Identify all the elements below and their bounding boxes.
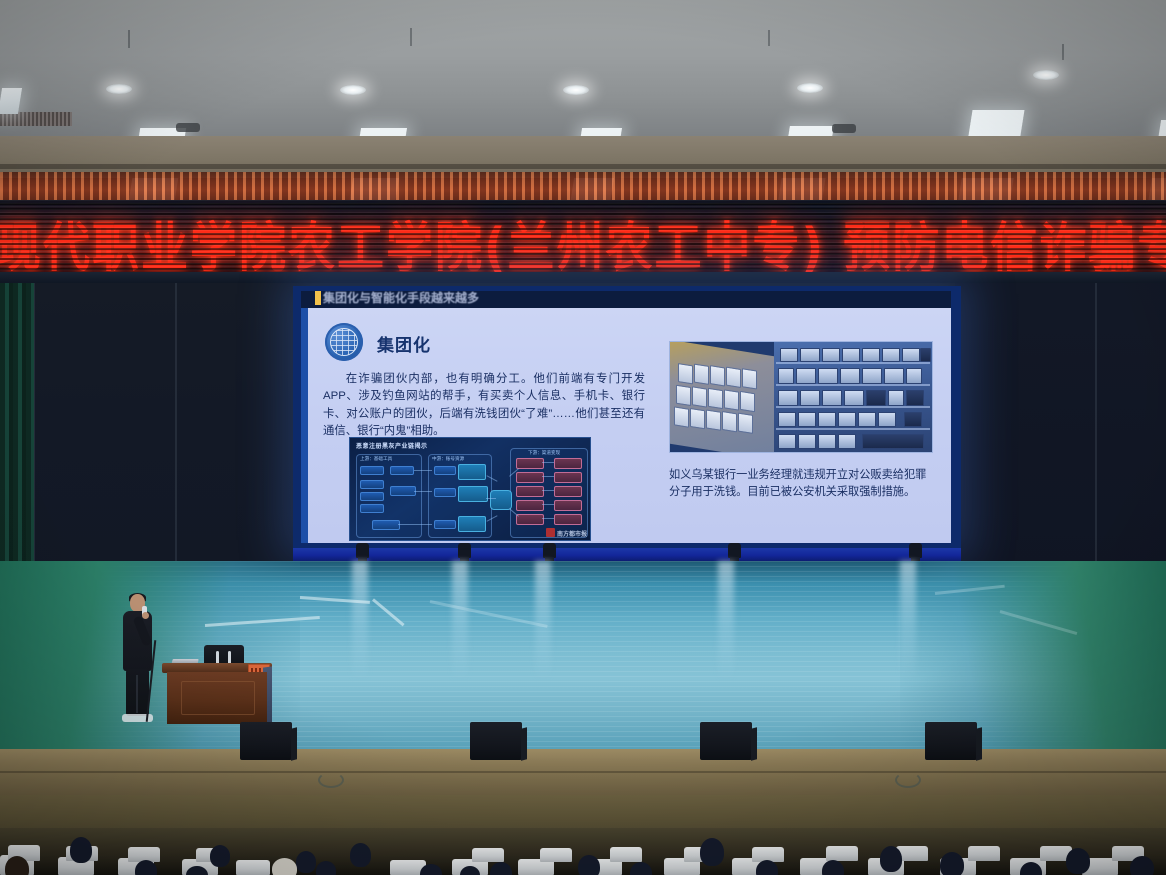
ceiling-spotlight-icon xyxy=(1033,70,1059,80)
podium-panel xyxy=(181,681,255,715)
ceiling-stem xyxy=(410,28,412,46)
diagram-node xyxy=(554,458,582,469)
stage-curtain-left xyxy=(0,283,34,593)
stage-monitor-speaker xyxy=(240,722,292,760)
slide-right-paragraph: 如义乌某银行一业务经理就违规开立对公贩卖给犯罪分子用于洗钱。目前已被公安机关采取… xyxy=(669,467,927,501)
backdrop-seam xyxy=(175,283,177,583)
diagram-node xyxy=(434,488,456,497)
globe-icon xyxy=(325,323,363,361)
presenter-legs xyxy=(126,669,149,716)
audience-head xyxy=(350,843,371,867)
seat xyxy=(610,847,642,862)
auditorium-photo: 现代职业学院农工学院(兰州农工中专) 预防电信诈骗专 集团化与智能化手段越来越多… xyxy=(0,0,1166,875)
audience-head xyxy=(578,855,600,875)
seat xyxy=(968,846,1000,861)
stage-edge xyxy=(0,749,1166,797)
diagram-node xyxy=(516,514,544,525)
audience-head xyxy=(210,845,230,867)
ceiling-speaker-icon xyxy=(832,124,856,133)
diagram-node xyxy=(434,520,456,529)
diagram-group-label: 上游：基础工具 xyxy=(360,456,392,462)
diagram-watermark-label: 南方都市报 xyxy=(557,532,587,538)
led-banner-text: 现代职业学院农工学院(兰州农工中专) 预防电信诈骗专 xyxy=(0,204,1166,278)
floor-light-reflection xyxy=(452,561,468,681)
diagram-node xyxy=(360,466,384,475)
diagram-node xyxy=(360,504,384,513)
projection-screen: 集团化与智能化手段越来越多 集团化 在诈骗团伙内部，也有明确分工。他们前端有专门… xyxy=(293,286,961,548)
stage-backdrop-right xyxy=(955,283,1166,583)
diagram-node xyxy=(360,480,384,489)
diagram-node xyxy=(554,472,582,483)
ceiling-stem xyxy=(768,30,770,46)
diagram-hub-node xyxy=(490,490,512,510)
diagram-connector xyxy=(398,524,432,525)
stage-monitor-speaker xyxy=(470,722,522,760)
floor-light-reflection xyxy=(352,561,368,681)
podium xyxy=(162,645,272,727)
diagram-node xyxy=(390,466,414,475)
ceiling-speaker-icon xyxy=(176,123,200,132)
audience-head xyxy=(135,860,157,875)
ceiling-spotlight-icon xyxy=(340,85,366,95)
diagram-node xyxy=(516,472,544,483)
diagram-connector xyxy=(486,498,496,499)
presenter-hand xyxy=(142,612,149,619)
diagram-node xyxy=(554,486,582,497)
ceiling-spotlight-icon xyxy=(563,85,589,95)
slide-body-paragraph: 在诈骗团伙内部，也有明确分工。他们前端有专门开发APP、涉及钓鱼网站的帮手，有买… xyxy=(323,371,645,440)
diagram-node xyxy=(554,514,582,525)
diagram-node xyxy=(516,486,544,497)
podium-body xyxy=(167,672,267,724)
industry-chain-diagram: 恶意注册黑灰产业链揭示 上游：基础工具 中游：账号资源 下游：渠道变现 xyxy=(349,437,591,541)
diagram-node xyxy=(554,500,582,511)
diagram-connector xyxy=(542,462,554,463)
led-banner-board: 现代职业学院农工学院(兰州农工中专) 预防电信诈骗专 xyxy=(0,200,1166,278)
diagram-node xyxy=(372,520,400,530)
diagram-node xyxy=(516,458,544,469)
diagram-node xyxy=(516,500,544,511)
audience-head xyxy=(756,860,778,875)
diagram-connector xyxy=(542,476,554,477)
floor-cable xyxy=(895,772,921,788)
slide-top-heading: 集团化与智能化手段越来越多 xyxy=(323,291,883,307)
ceiling-spotlight-icon xyxy=(106,84,132,94)
audience-head xyxy=(940,852,964,875)
backdrop-seam xyxy=(1095,283,1097,583)
diagram-connector xyxy=(414,470,432,471)
diagram-title: 恶意注册黑灰产业链揭示 xyxy=(356,441,428,450)
diagram-connector xyxy=(542,504,554,505)
audience-head xyxy=(316,861,336,875)
diagram-connector xyxy=(542,490,554,491)
audience-head xyxy=(70,837,92,863)
diagram-connector xyxy=(414,491,432,492)
audience-head xyxy=(5,856,29,875)
diagram-group-label: 中游：账号资源 xyxy=(432,456,464,462)
diagram-node xyxy=(360,492,384,501)
photo-right-rack xyxy=(774,342,932,452)
audience-head xyxy=(822,860,844,875)
diagram-node xyxy=(434,466,456,475)
slide-accent-bar xyxy=(315,291,321,305)
seat xyxy=(826,846,858,861)
audience-head xyxy=(1130,856,1154,875)
diagram-node xyxy=(390,486,416,496)
audience-head xyxy=(272,858,297,875)
stage-monitor-speaker xyxy=(925,722,977,760)
stage-light-truss xyxy=(293,548,961,561)
audience-head xyxy=(296,851,316,873)
diagram-group-label: 下游：渠道变现 xyxy=(528,450,560,456)
slide-left-strip xyxy=(301,308,308,543)
ceiling-stem xyxy=(1062,44,1064,60)
diagram-node xyxy=(458,464,486,480)
diagram-node xyxy=(458,516,486,532)
audience-head xyxy=(880,846,902,872)
ceiling-stem xyxy=(128,30,130,48)
seat xyxy=(236,860,270,875)
stage-monitor-speaker xyxy=(700,722,752,760)
diagram-watermark: 南方都市报 xyxy=(546,528,587,538)
seat xyxy=(472,848,504,862)
sim-farm-photo xyxy=(669,341,933,453)
audience-head xyxy=(1066,848,1090,874)
seat xyxy=(540,848,572,862)
diagram-connector xyxy=(542,518,554,519)
ceiling-spotlight-icon xyxy=(797,83,823,93)
diagram-node xyxy=(458,486,488,502)
slide-section-heading: 集团化 xyxy=(377,331,431,356)
floor-cable xyxy=(318,772,344,788)
floor-light-reflection xyxy=(900,561,916,681)
ceiling-vent-icon xyxy=(0,112,72,126)
floor-light-reflection xyxy=(535,561,551,681)
photo-left-rack xyxy=(670,341,774,453)
floor-light-reflection xyxy=(718,561,734,681)
audience-head xyxy=(700,838,724,866)
slide-surface: 集团化与智能化手段越来越多 集团化 在诈骗团伙内部，也有明确分工。他们前端有专门… xyxy=(301,291,951,543)
